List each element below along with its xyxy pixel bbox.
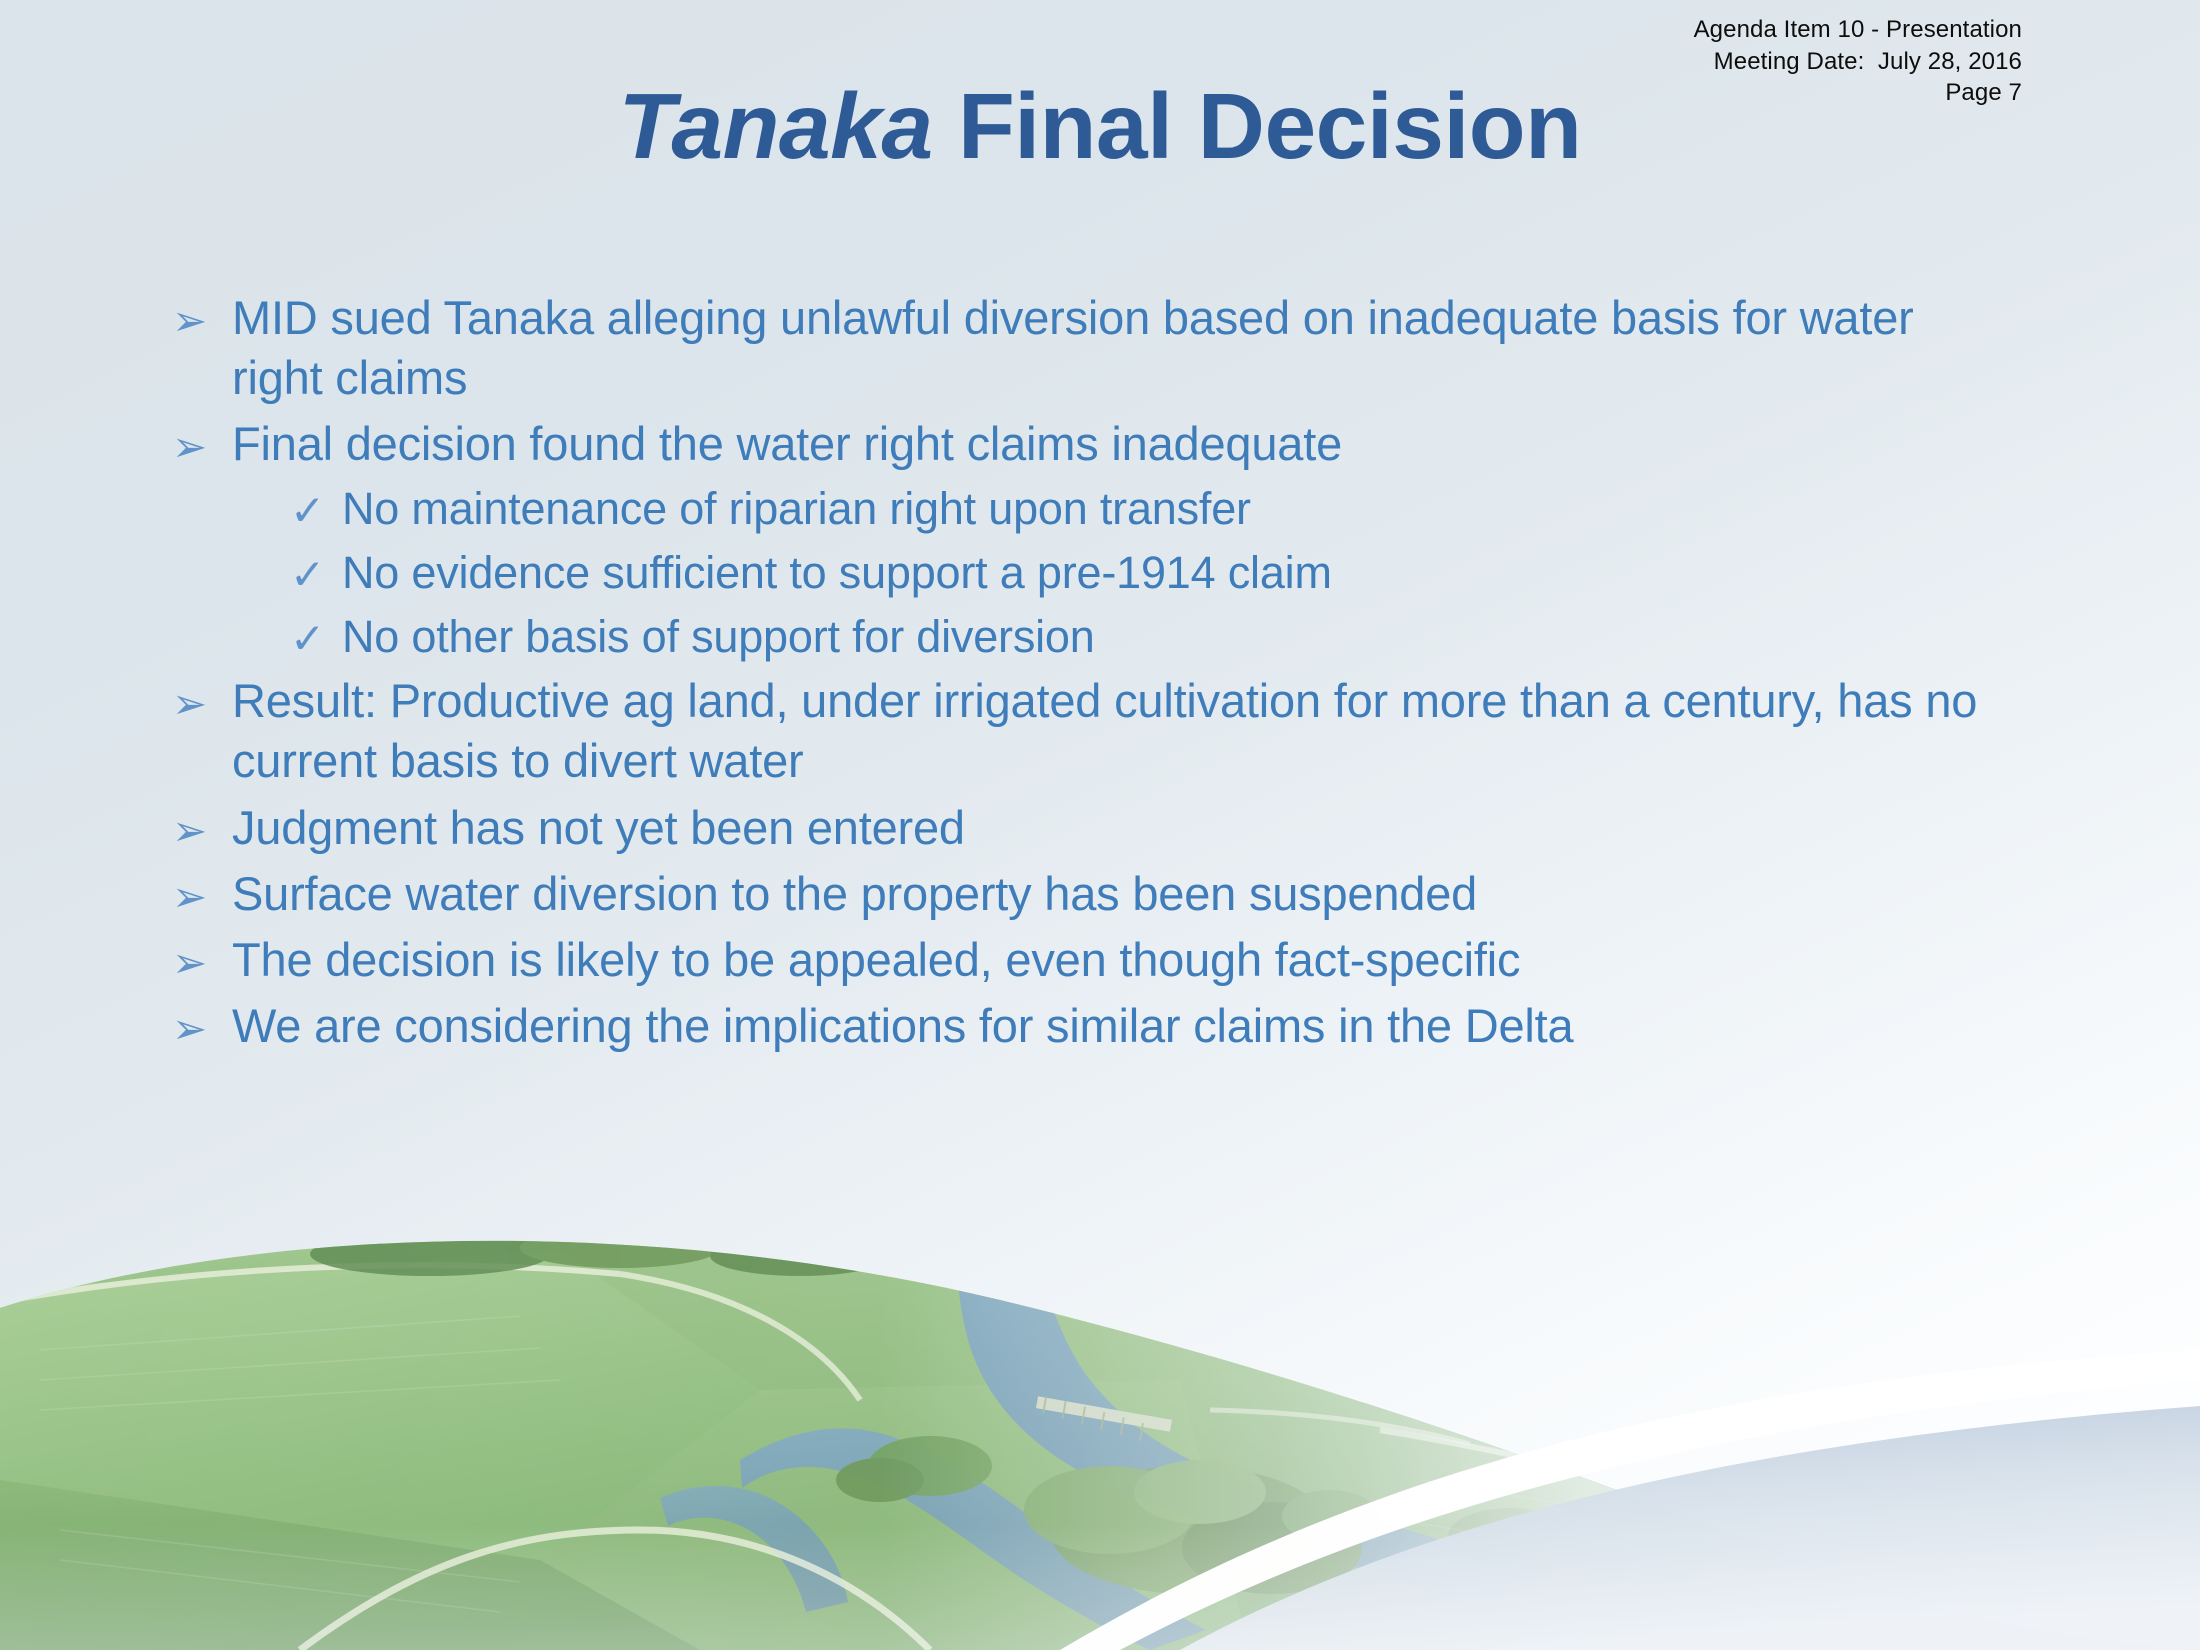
bullet-list: ➢ MID sued Tanaka alleging unlawful dive… <box>172 288 2052 1062</box>
list-item-text: MID sued Tanaka alleging unlawful divers… <box>232 288 2007 408</box>
check-bullet-icon: ✓ <box>290 480 342 532</box>
list-item-text: Judgment has not yet been entered <box>232 798 2007 858</box>
arrow-bullet-icon: ➢ <box>172 864 232 918</box>
list-item: ➢ The decision is likely to be appealed,… <box>172 930 2052 990</box>
list-item-text: The decision is likely to be appealed, e… <box>232 930 2007 990</box>
list-item: ➢ Judgment has not yet been entered <box>172 798 2052 858</box>
list-item: ➢ We are considering the implications fo… <box>172 996 2052 1056</box>
agenda-item-line: Agenda Item 10 - Presentation <box>1694 14 2022 46</box>
photo-content <box>0 1230 2200 1650</box>
list-item-text: Final decision found the water right cla… <box>232 414 2007 474</box>
wave-swoosh <box>780 1230 2200 1650</box>
sub-list-item: ✓ No maintenance of riparian right upon … <box>172 480 2052 538</box>
list-item-text: Result: Productive ag land, under irriga… <box>232 671 2007 791</box>
aerial-delta-photo <box>0 1230 2200 1650</box>
list-item-text: We are considering the implications for … <box>232 996 2007 1056</box>
list-item: ➢ MID sued Tanaka alleging unlawful dive… <box>172 288 2052 408</box>
sub-list-item: ✓ No evidence sufficient to support a pr… <box>172 544 2052 602</box>
page-title: Tanaka Final Decision <box>0 78 2200 176</box>
sub-list-item-text: No evidence sufficient to support a pre-… <box>342 544 1982 602</box>
bridge-detail <box>1036 1396 1172 1441</box>
title-rest: Final Decision <box>933 74 1582 178</box>
list-item: ➢ Final decision found the water right c… <box>172 414 2052 474</box>
arrow-bullet-icon: ➢ <box>172 930 232 984</box>
sub-list-item-text: No maintenance of riparian right upon tr… <box>342 480 1982 538</box>
title-emphasis: Tanaka <box>619 74 933 178</box>
aerial-delta-illustration <box>0 1230 2200 1650</box>
arrow-bullet-icon: ➢ <box>172 671 232 725</box>
check-bullet-icon: ✓ <box>290 544 342 596</box>
arrow-bullet-icon: ➢ <box>172 798 232 852</box>
meeting-date-line: Meeting Date: July 28, 2016 <box>1694 46 2022 78</box>
field-texture <box>40 1316 1900 1612</box>
tree-line <box>310 1230 1030 1284</box>
arrow-bullet-icon: ➢ <box>172 414 232 468</box>
list-item: ➢ Surface water diversion to the propert… <box>172 864 2052 924</box>
sub-list-item: ✓ No other basis of support for diversio… <box>172 608 2052 666</box>
list-item-text: Surface water diversion to the property … <box>232 864 2007 924</box>
sub-list-item-text: No other basis of support for diversion <box>342 608 1982 666</box>
arrow-bullet-icon: ➢ <box>172 996 232 1050</box>
slide: Agenda Item 10 - Presentation Meeting Da… <box>0 0 2200 1650</box>
list-item: ➢ Result: Productive ag land, under irri… <box>172 671 2052 791</box>
check-bullet-icon: ✓ <box>290 608 342 660</box>
arrow-bullet-icon: ➢ <box>172 288 232 342</box>
riparian-vegetation <box>836 1436 1744 1628</box>
